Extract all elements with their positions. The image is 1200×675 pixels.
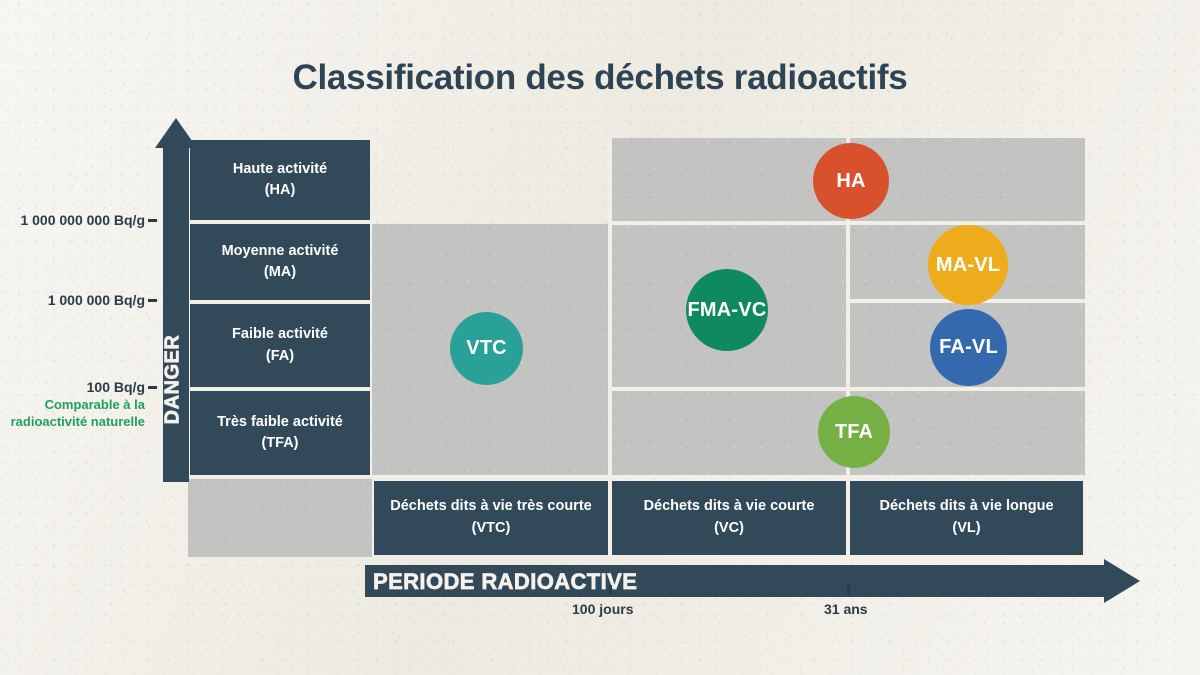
bubble-ma-vl[interactable]: MA-VL	[928, 225, 1008, 305]
column-vtc-code: (VTC)	[472, 518, 511, 540]
column-vl-name: Déchets dits à vie longue	[879, 496, 1053, 518]
bubble-fa-vl[interactable]: FA-VL	[930, 309, 1007, 386]
category-fa-name: Faible activité	[232, 324, 328, 345]
bubble-tfa[interactable]: TFA	[818, 396, 890, 468]
category-fa-code: (FA)	[266, 346, 294, 367]
column-box-vtc[interactable]: Déchets dits à vie très courte (VTC)	[372, 479, 610, 557]
bubble-ha[interactable]: HA	[813, 143, 889, 219]
category-box-ma[interactable]: Moyenne activité (MA)	[188, 222, 372, 302]
bubble-tfa-label: TFA	[835, 421, 873, 444]
column-vc-name: Déchets dits à vie courte	[644, 496, 815, 518]
y-tick-label-1e6: 1 000 000 Bq/g	[0, 292, 145, 308]
bubble-fma-vc-label: FMA-VC	[688, 299, 767, 322]
divider-vertical-100-jours	[608, 138, 612, 477]
column-vl-code: (VL)	[952, 518, 980, 540]
y-tick-label-100: 100 Bq/g	[0, 379, 145, 395]
period-arrowhead-icon	[1104, 559, 1140, 603]
column-box-vl[interactable]: Déchets dits à vie longue (VL)	[848, 479, 1085, 557]
x-tick-mark-100-jours	[609, 585, 612, 595]
page-title: Classification des déchets radioactifs	[0, 58, 1200, 98]
category-tfa-code: (TFA)	[261, 433, 298, 454]
infographic-stage: Classification des déchets radioactifs H…	[0, 0, 1200, 675]
category-box-fa[interactable]: Faible activité (FA)	[188, 302, 372, 389]
x-axis-period-arrow: PERIODE RADIOACTIVE	[365, 559, 1140, 603]
bubble-vtc[interactable]: VTC	[450, 312, 523, 385]
x-tick-label-31-ans: 31 ans	[824, 601, 868, 617]
category-ha-name: Haute activité	[233, 159, 327, 180]
bubble-vtc-label: VTC	[466, 337, 507, 360]
y-tick-label-1e9: 1 000 000 000 Bq/g	[0, 212, 145, 228]
bubble-fa-vl-label: FA-VL	[939, 336, 998, 359]
bubble-ha-label: HA	[836, 170, 865, 193]
y-axis-label: DANGER	[162, 315, 185, 445]
category-tfa-name: Très faible activité	[217, 412, 343, 433]
divider-horizontal-fa-tfa	[612, 387, 1085, 391]
natural-radioactivity-note: Comparable à la radioactivité naturelle	[5, 397, 145, 431]
y-axis-danger-arrow: DANGER	[155, 118, 197, 482]
x-tick-label-100-jours: 100 jours	[572, 601, 633, 617]
divider-horizontal-ha-ma	[612, 221, 1085, 225]
category-ma-name: Moyenne activité	[222, 241, 339, 262]
grid-cell-left-footer	[188, 479, 372, 557]
column-vc-code: (VC)	[714, 518, 744, 540]
category-box-tfa[interactable]: Très faible activité (TFA)	[188, 389, 372, 477]
column-box-vc[interactable]: Déchets dits à vie courte (VC)	[610, 479, 848, 557]
category-box-ha[interactable]: Haute activité (HA)	[188, 138, 372, 222]
x-tick-mark-31-ans	[847, 585, 850, 595]
bubble-fma-vc[interactable]: FMA-VC	[686, 269, 768, 351]
bubble-ma-vl-label: MA-VL	[936, 254, 1000, 277]
category-ha-code: (HA)	[265, 180, 296, 201]
grid-cell-vc-tfa	[612, 390, 848, 477]
category-ma-code: (MA)	[264, 262, 296, 283]
column-vtc-name: Déchets dits à vie très courte	[390, 496, 591, 518]
x-axis-label: PERIODE RADIOACTIVE	[373, 569, 637, 595]
